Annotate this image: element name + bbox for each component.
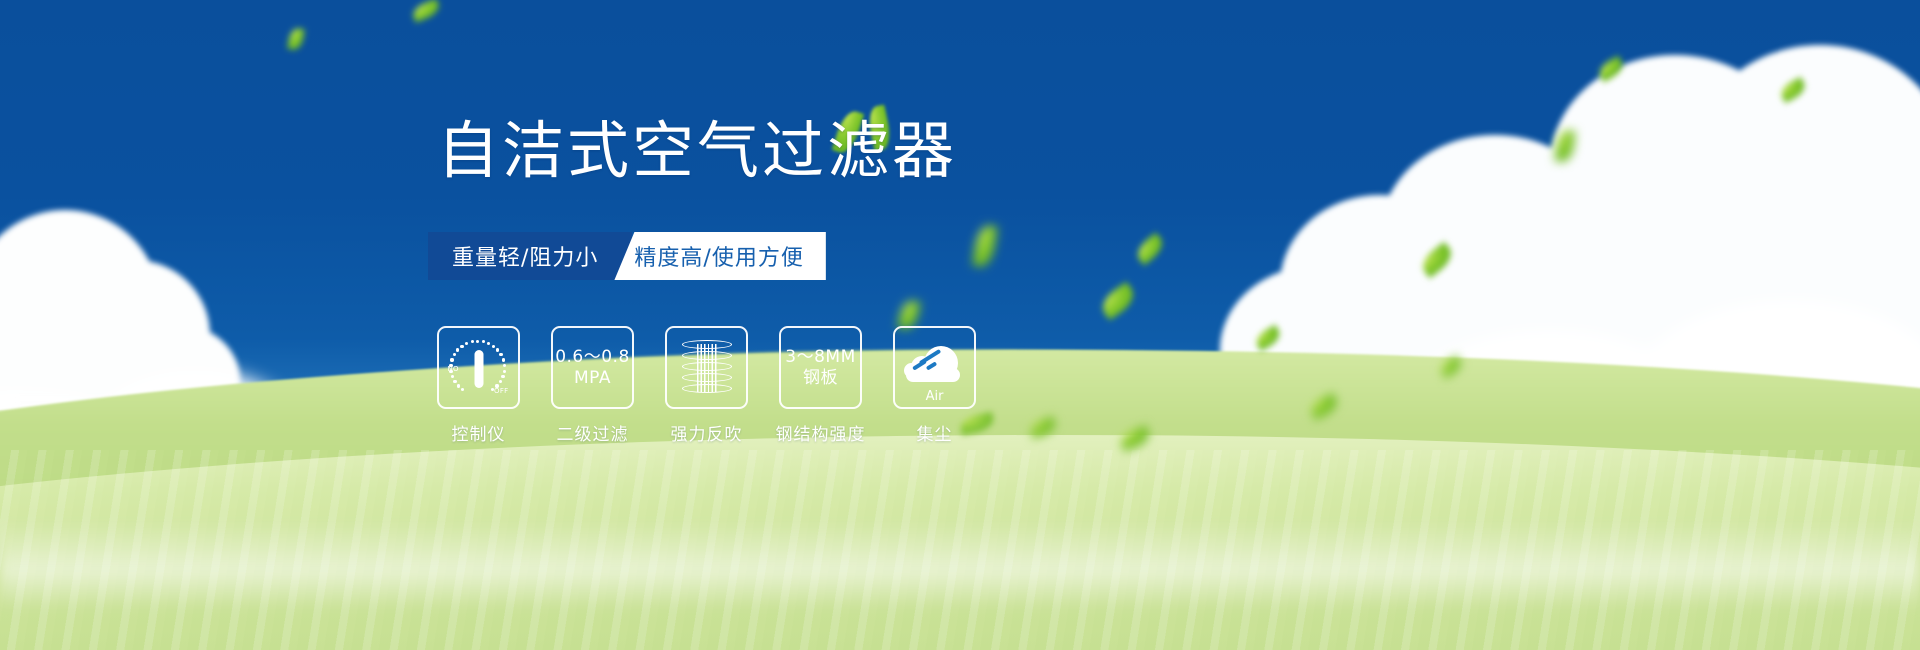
steel-value-line2: 钢板 bbox=[803, 368, 838, 388]
badge-primary-label: 重量轻/阻力小 bbox=[452, 240, 598, 272]
feature-label-pressure: 二级过滤 bbox=[557, 420, 629, 445]
air-cloud-icon: Air bbox=[904, 344, 966, 390]
feature-label-backblow: 强力反吹 bbox=[671, 420, 743, 445]
gauge-label-off: OFF bbox=[494, 387, 508, 395]
feature-label-steel: 钢结构强度 bbox=[776, 420, 866, 445]
feature-item-backblow[interactable]: 强力反吹 bbox=[664, 326, 749, 445]
filter-cartridge-icon bbox=[682, 340, 732, 396]
feature-box-controller: NO OFF bbox=[437, 326, 520, 409]
badge-group: 重量轻/阻力小 精度高/使用方便 bbox=[428, 232, 826, 280]
feature-box-backblow bbox=[665, 326, 748, 409]
feature-item-pressure[interactable]: 0.6～0.8 MPA 二级过滤 bbox=[550, 326, 635, 445]
feature-item-controller[interactable]: NO OFF 控制仪 bbox=[436, 326, 521, 445]
gauge-needle bbox=[474, 350, 483, 388]
badge-secondary[interactable]: 精度高/使用方便 bbox=[614, 232, 825, 280]
page-title: 自洁式空气过滤器 bbox=[437, 120, 957, 182]
feature-list: NO OFF 控制仪 0.6～0.8 MPA 二级过滤 bbox=[436, 326, 977, 445]
feature-box-dust: Air bbox=[893, 326, 976, 409]
gauge-label-on: NO bbox=[448, 365, 459, 373]
feature-box-steel: 3～8MM 钢板 bbox=[779, 326, 862, 409]
badge-primary[interactable]: 重量轻/阻力小 bbox=[428, 232, 632, 280]
banner-content: 自洁式空气过滤器 重量轻/阻力小 精度高/使用方便 bbox=[0, 0, 1920, 650]
air-label: Air bbox=[904, 389, 966, 404]
pressure-value-line2: MPA bbox=[574, 368, 611, 388]
badge-secondary-label: 精度高/使用方便 bbox=[634, 240, 803, 272]
feature-label-dust: 集尘 bbox=[917, 420, 953, 445]
feature-box-pressure: 0.6～0.8 MPA bbox=[551, 326, 634, 409]
feature-label-controller: 控制仪 bbox=[452, 420, 506, 445]
feature-item-steel[interactable]: 3～8MM 钢板 钢结构强度 bbox=[778, 326, 863, 445]
hero-banner: 自洁式空气过滤器 重量轻/阻力小 精度高/使用方便 bbox=[0, 0, 1920, 650]
steel-value-line1: 3～8MM bbox=[785, 347, 855, 367]
gauge-icon: NO OFF bbox=[449, 339, 509, 397]
pressure-value-line1: 0.6～0.8 bbox=[555, 347, 630, 367]
